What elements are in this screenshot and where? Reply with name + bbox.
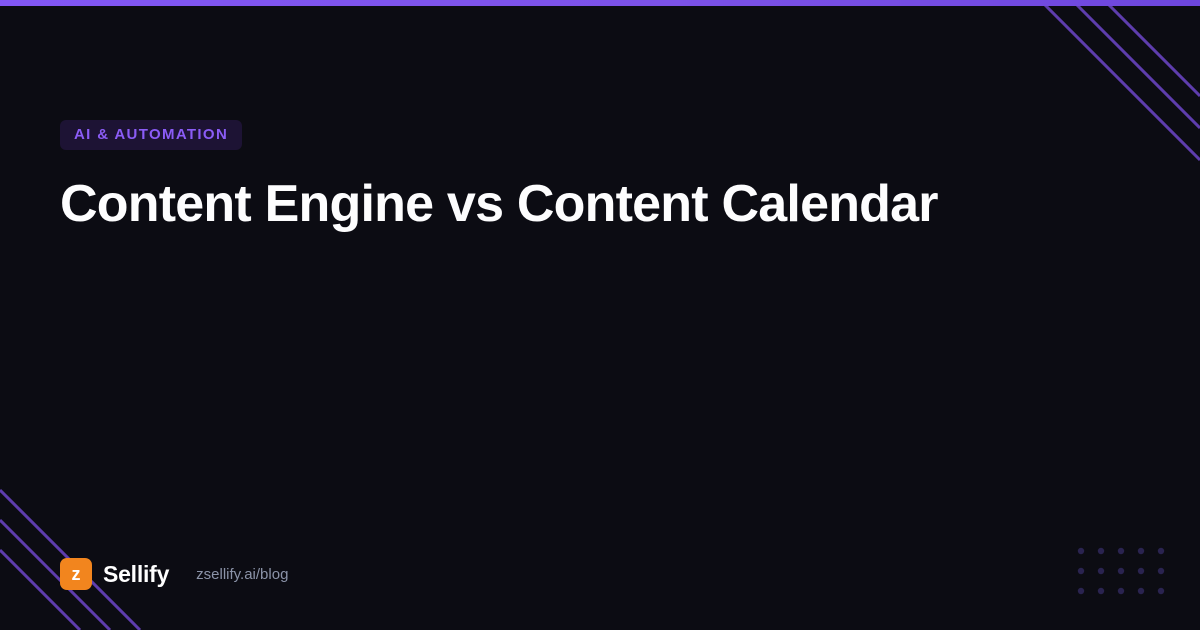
category-badge: AI & AUTOMATION bbox=[60, 120, 242, 150]
site-url: zsellify.ai/blog bbox=[196, 567, 288, 582]
card-footer: z Sellify zsellify.ai/blog bbox=[60, 558, 288, 590]
top-accent-bar bbox=[0, 0, 1200, 6]
dot-grid-decoration-icon bbox=[1076, 546, 1186, 598]
brand-logo-icon: z bbox=[60, 558, 92, 590]
og-card: AI & AUTOMATION Content Engine vs Conten… bbox=[0, 0, 1200, 630]
card-content: AI & AUTOMATION Content Engine vs Conten… bbox=[60, 120, 1120, 233]
bottom-left-diagonal-lines-icon bbox=[0, 440, 220, 630]
brand-lockup: z Sellify bbox=[60, 558, 169, 590]
page-title: Content Engine vs Content Calendar bbox=[60, 175, 1120, 233]
brand-name: Sellify bbox=[103, 563, 169, 586]
